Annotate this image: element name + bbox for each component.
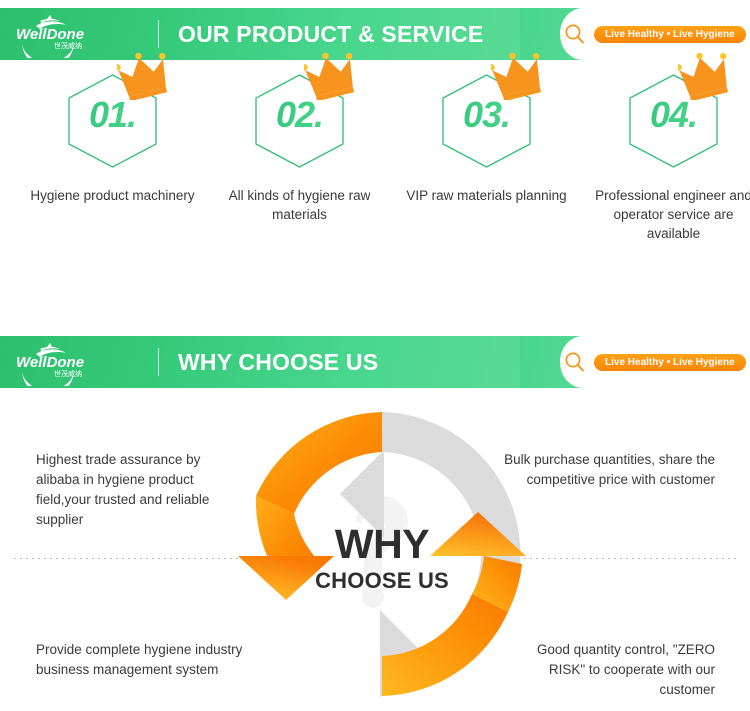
why-cycle-diagram: WHY CHOOSE US <box>232 404 532 704</box>
product-item-2[interactable]: 02. All kinds of hygiene raw materials <box>212 52 387 243</box>
item-number: 02. <box>212 94 387 136</box>
reason-bottom-left: Provide complete hygiene industry busine… <box>36 640 246 680</box>
item-number: 04. <box>586 94 750 136</box>
tagline-badge[interactable]: Live Healthy • Live Hygiene <box>594 354 746 371</box>
tagline-badge[interactable]: Live Healthy • Live Hygiene <box>594 26 746 43</box>
svg-text:WellDone: WellDone <box>16 354 84 371</box>
product-item-1[interactable]: 01. Hygiene product machinery <box>25 52 200 243</box>
crown-icon <box>117 52 173 100</box>
banner-title: OUR PRODUCT & SERVICE <box>178 18 483 50</box>
item-caption: All kinds of hygiene raw materials <box>212 186 387 224</box>
item-caption: Professional engineer and operator servi… <box>586 186 750 243</box>
crown-icon <box>304 52 360 100</box>
products-section: 01. Hygiene product machinery <box>0 52 750 320</box>
banner-title: WHY CHOOSE US <box>178 346 378 378</box>
search-icon[interactable] <box>563 22 587 46</box>
divider-right <box>498 558 738 559</box>
svg-text:WellDone: WellDone <box>16 26 84 43</box>
product-item-4[interactable]: 04. Professional engineer and operator s… <box>586 52 750 243</box>
product-items-grid: 01. Hygiene product machinery <box>0 52 750 243</box>
item-number: 01. <box>25 94 200 136</box>
divider-left <box>12 558 248 559</box>
reasons-left-column: Highest trade assurance by alibaba in hy… <box>36 450 246 530</box>
crown-icon <box>678 52 734 100</box>
svg-text:世茂威纳: 世茂威纳 <box>54 369 82 378</box>
hex-badge: 03. <box>399 52 574 170</box>
banner-divider <box>158 20 159 48</box>
hex-badge: 01. <box>25 52 200 170</box>
item-caption: VIP raw materials planning <box>399 186 574 205</box>
arrowhead-down <box>238 556 334 600</box>
crown-icon <box>491 52 547 100</box>
reasons-right-column: Bulk purchase quantities, share the comp… <box>500 450 715 490</box>
banner-why-choose-us: WellDone 世茂威纳 WHY CHOOSE US Live Healthy… <box>0 336 750 388</box>
search-icon[interactable] <box>563 350 587 374</box>
welldone-logo[interactable]: WellDone 世茂威纳 <box>14 12 138 58</box>
item-number: 03. <box>399 94 574 136</box>
reason-top-left: Highest trade assurance by alibaba in hy… <box>36 450 246 530</box>
hex-badge: 04. <box>586 52 750 170</box>
reason-bottom-right: Good quantity control, "ZERO RISK" to co… <box>500 640 715 700</box>
item-caption: Hygiene product machinery <box>25 186 200 205</box>
reason-top-right: Bulk purchase quantities, share the comp… <box>500 450 715 490</box>
hex-badge: 02. <box>212 52 387 170</box>
product-item-3[interactable]: 03. VIP raw materials planning <box>399 52 574 243</box>
welldone-logo[interactable]: WellDone 世茂威纳 <box>14 340 138 386</box>
why-choose-us-section: Highest trade assurance by alibaba in hy… <box>0 388 750 711</box>
svg-text:世茂威纳: 世茂威纳 <box>54 41 82 50</box>
banner-divider <box>158 348 159 376</box>
